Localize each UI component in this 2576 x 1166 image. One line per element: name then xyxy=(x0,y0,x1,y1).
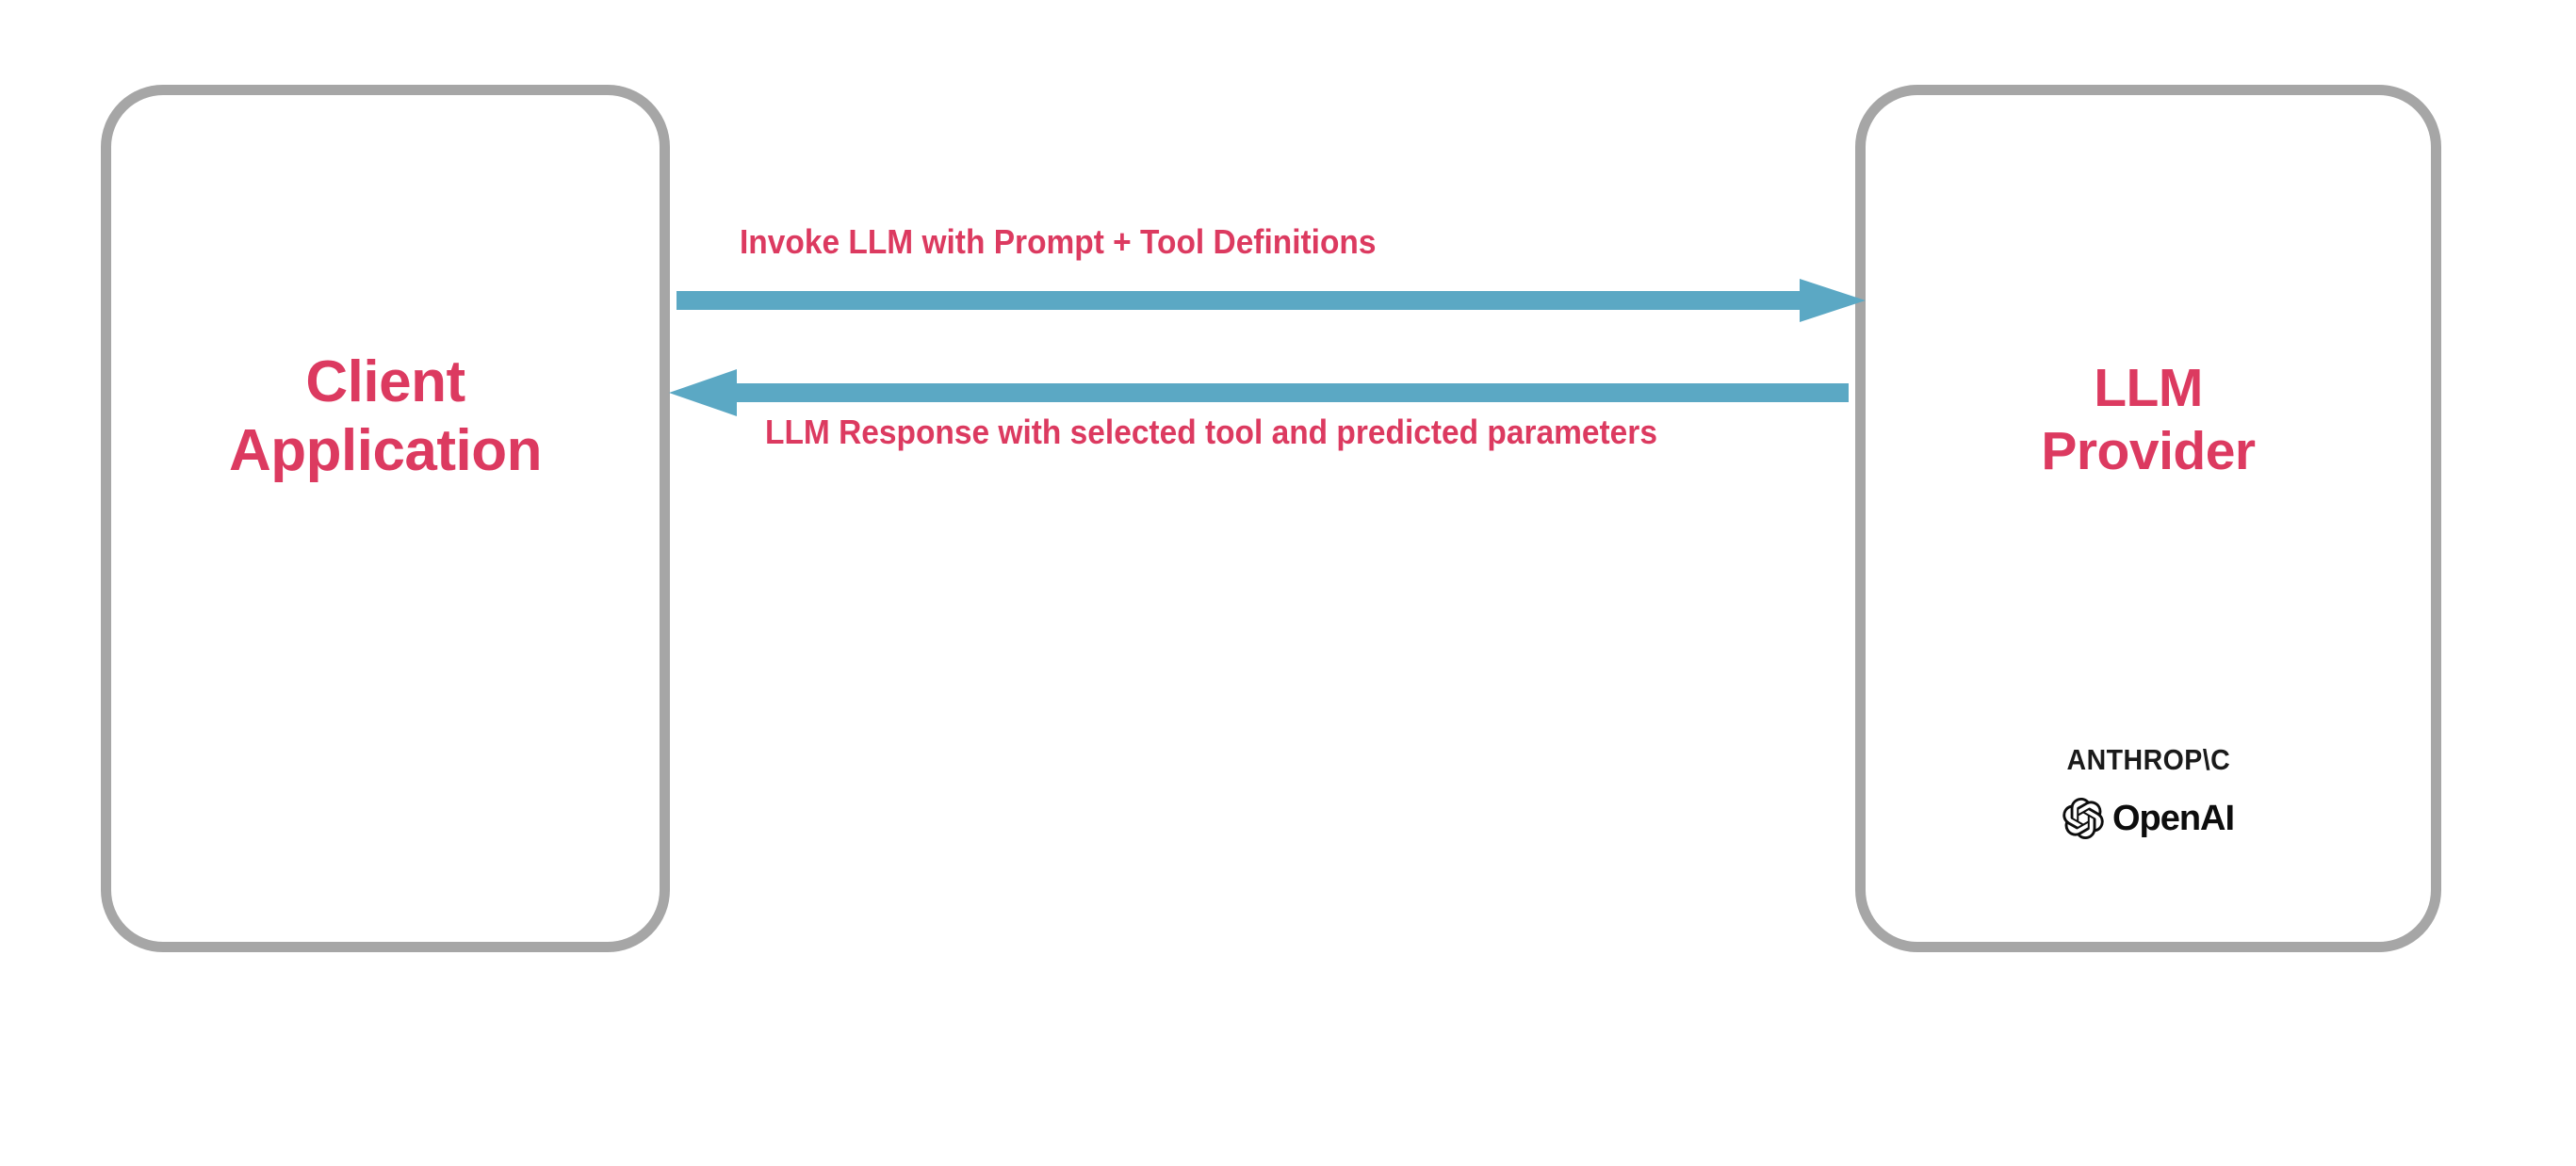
client-title-line-2: Application xyxy=(229,418,542,483)
arrow-response-head xyxy=(669,369,737,416)
arrow-response-label: LLM Response with selected tool and pred… xyxy=(765,413,1657,452)
node-client-application-title: ClientApplication xyxy=(111,348,660,485)
openai-wordmark: OpenAI xyxy=(2112,799,2234,839)
openai-logo: OpenAI xyxy=(2062,798,2234,839)
openai-knot-icon xyxy=(2062,798,2104,839)
arrow-request-label: Invoke LLM with Prompt + Tool Definition… xyxy=(740,222,1376,262)
client-title-line-1: Client xyxy=(305,349,465,414)
provider-title-line-2: Provider xyxy=(2041,421,2255,481)
provider-title-line-1: LLM xyxy=(2094,358,2203,418)
arrow-response xyxy=(669,364,1849,420)
arrow-response-shaft xyxy=(726,383,1849,402)
arrow-request-shaft xyxy=(677,291,1821,310)
node-client-application[interactable]: ClientApplication xyxy=(101,85,670,952)
anthropic-logo: ANTHROP\C xyxy=(2066,743,2230,777)
diagram-canvas: ClientApplication LLMProvider ANTHROP\C … xyxy=(0,0,2576,1166)
node-llm-provider[interactable]: LLMProvider ANTHROP\C OpenAI xyxy=(1855,85,2441,952)
arrow-request-head xyxy=(1800,279,1866,322)
provider-logo-stack: ANTHROP\C OpenAI xyxy=(1866,743,2431,839)
arrow-request xyxy=(677,271,1866,328)
node-llm-provider-title: LLMProvider xyxy=(1866,357,2431,484)
